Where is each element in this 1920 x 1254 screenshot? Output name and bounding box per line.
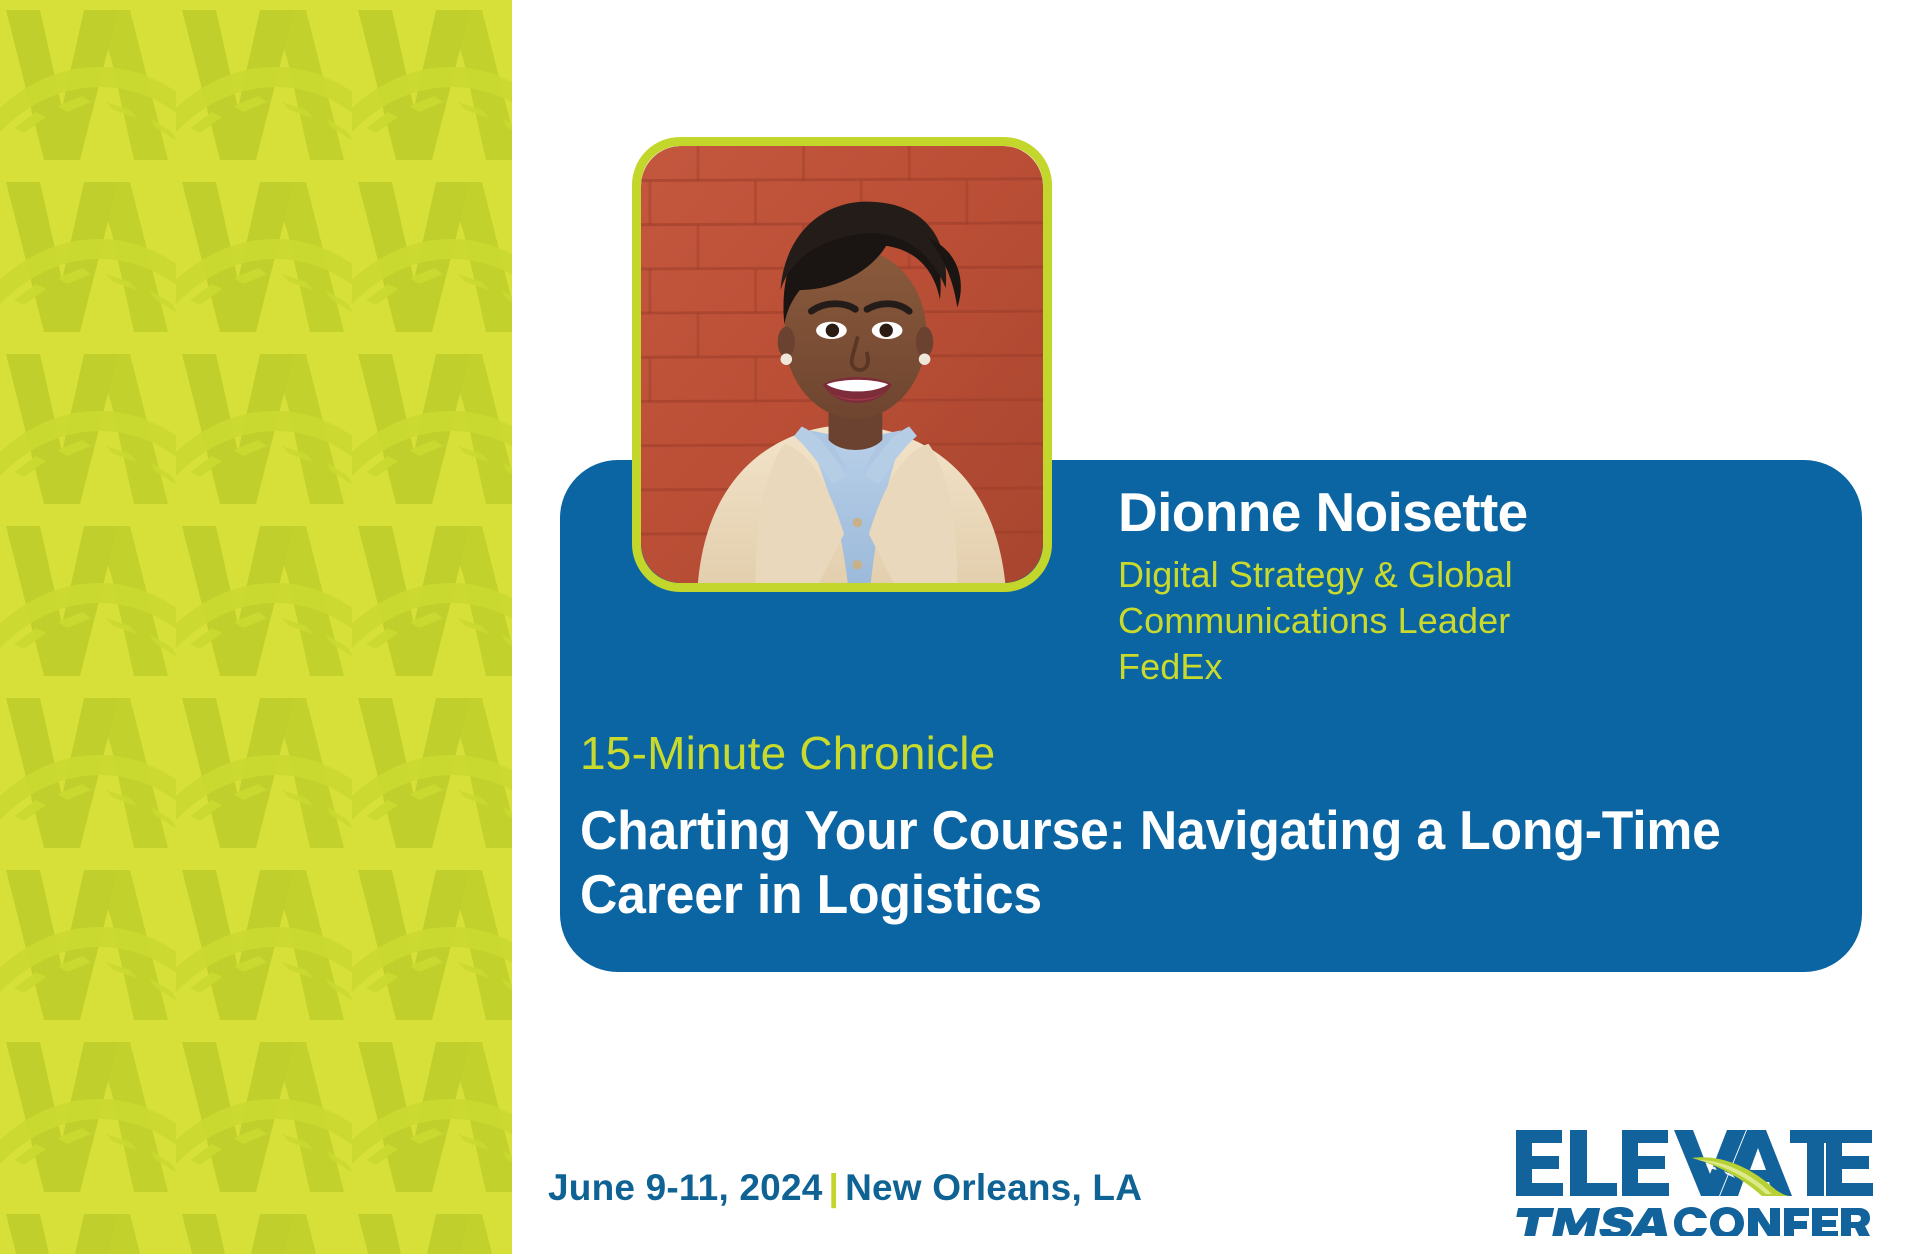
va-pattern-icon bbox=[0, 0, 512, 1254]
elevate-tmsa-conference-logo bbox=[1514, 1124, 1874, 1236]
elevate-logo-icon bbox=[1514, 1124, 1874, 1236]
speaker-title-line-1: Digital Strategy & Global bbox=[1118, 552, 1838, 598]
session-type-label: 15-Minute Chronicle bbox=[580, 728, 995, 779]
pattern-panel bbox=[0, 0, 512, 1254]
speaker-company: FedEx bbox=[1118, 644, 1838, 690]
event-location: New Orleans, LA bbox=[845, 1167, 1142, 1208]
speaker-name: Dionne Noisette bbox=[1118, 482, 1838, 544]
session-title: Charting Your Course: Navigating a Long-… bbox=[580, 798, 1769, 927]
speaker-photo-inner bbox=[641, 146, 1043, 583]
speaker-identity-block: Dionne Noisette Digital Strategy & Globa… bbox=[1118, 482, 1838, 690]
event-details: June 9-11, 2024|New Orleans, LA bbox=[548, 1167, 1142, 1209]
speaker-photo bbox=[632, 137, 1052, 592]
speaker-title-line-2: Communications Leader bbox=[1118, 598, 1838, 644]
speaker-headshot-image bbox=[641, 146, 1043, 583]
event-dates: June 9-11, 2024 bbox=[548, 1167, 823, 1208]
event-separator: | bbox=[823, 1167, 846, 1208]
conference-speaker-slide: Dionne Noisette Digital Strategy & Globa… bbox=[0, 0, 1920, 1254]
